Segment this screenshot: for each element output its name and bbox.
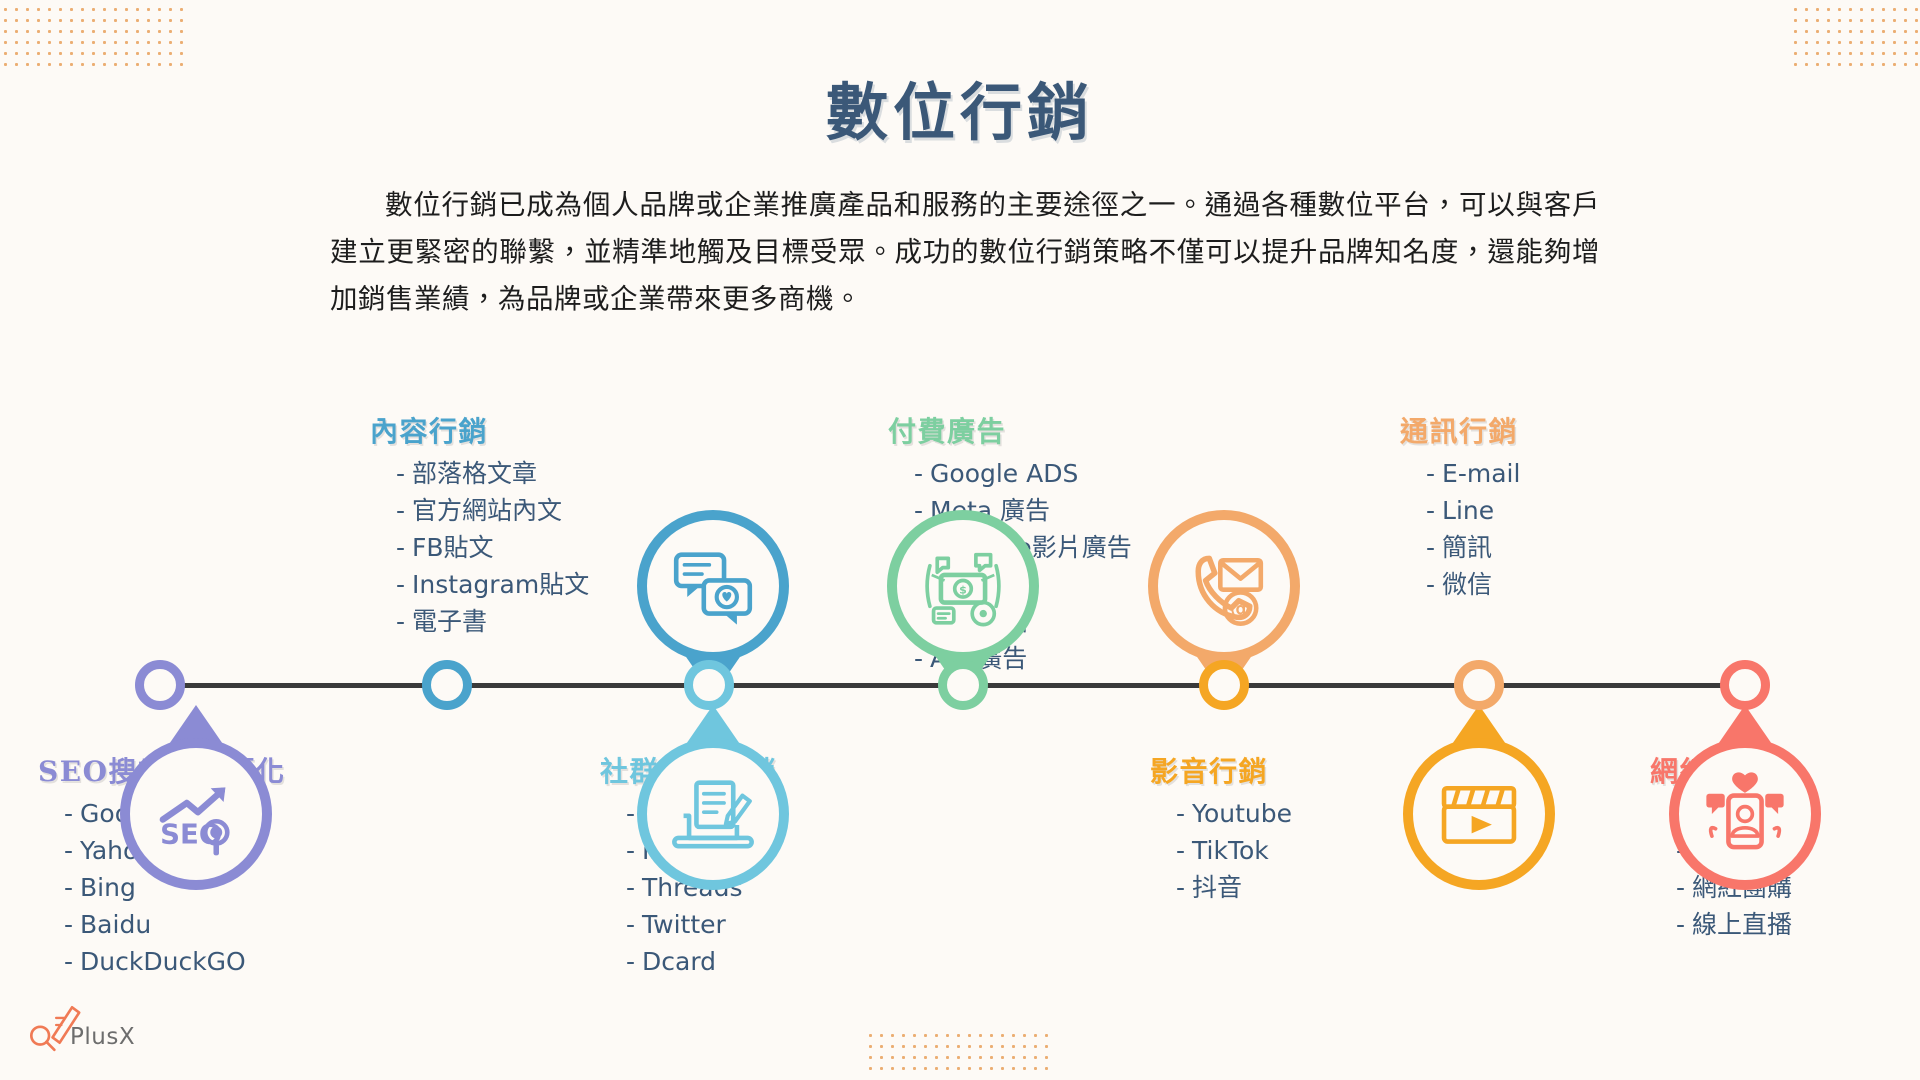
bullet-dash: - [1676, 910, 1685, 939]
bullet-dash: - [1176, 873, 1185, 902]
list-item: -DuckDuckGO [64, 943, 368, 980]
bullet-dash: - [626, 836, 635, 865]
list-item: -E-mail [1426, 455, 1730, 492]
bullet-dash: - [1426, 570, 1435, 599]
timeline-node-seo[interactable] [135, 660, 185, 710]
timeline-node-paid-ads[interactable] [938, 660, 988, 710]
svg-text:@: @ [1230, 595, 1251, 620]
list-item: -Dcard [626, 943, 930, 980]
section-list-messaging: -E-mail-Line-簡訊-微信 [1400, 455, 1730, 603]
bullet-dash: - [1426, 533, 1435, 562]
bullet-dash: - [1176, 799, 1185, 828]
pin-bubble-messaging: @ [1148, 510, 1300, 662]
laptop-document-pen-icon [667, 768, 759, 860]
list-item: -Twitter [626, 906, 930, 943]
pin-video[interactable] [1403, 705, 1555, 890]
dot-grid-top-left [0, 4, 190, 66]
timeline-node-messaging[interactable] [1454, 660, 1504, 710]
list-item: -簡訊 [1426, 529, 1730, 566]
pin-social[interactable] [637, 705, 789, 890]
list-item: -微信 [1426, 566, 1730, 603]
list-item: -Line [1426, 492, 1730, 529]
pin-seo[interactable]: SEO [120, 705, 272, 890]
section-heading-paid-ads: 付費廣告 [888, 410, 1218, 450]
pin-bubble-social [637, 738, 789, 890]
bullet-dash: - [396, 570, 405, 599]
dot-grid-bottom [865, 1030, 1055, 1072]
pin-bubble-influencer [1669, 738, 1821, 890]
phone-envelope-at-icon: @ [1178, 540, 1270, 632]
bullet-dash: - [626, 799, 635, 828]
bullet-dash: - [64, 799, 73, 828]
bullet-dash: - [64, 910, 73, 939]
bullet-dash: - [396, 533, 405, 562]
pin-bubble-content [637, 510, 789, 662]
pin-bubble-seo: SEO [120, 738, 272, 890]
bullet-dash: - [626, 947, 635, 976]
list-item: -Google ADS [914, 455, 1218, 492]
list-item: -部落格文章 [396, 455, 700, 492]
megaphone-network-icon: $ [917, 540, 1009, 632]
bullet-dash: - [1176, 836, 1185, 865]
bullet-dash: - [396, 607, 405, 636]
section-heading-content: 內容行銷 [370, 410, 700, 450]
plusx-watermark: PlusX [26, 992, 161, 1054]
bullet-dash: - [396, 459, 405, 488]
list-item: -Baidu [64, 906, 368, 943]
bullet-dash: - [64, 947, 73, 976]
bullet-dash: - [1426, 459, 1435, 488]
seo-growth-chart-icon: SEO [150, 768, 242, 860]
watermark-label: PlusX [70, 1024, 135, 1050]
section-block-messaging: 通訊行銷-E-mail-Line-簡訊-微信 [1400, 410, 1730, 603]
chat-bubbles-heart-icon [667, 540, 759, 632]
bullet-dash: - [64, 836, 73, 865]
pin-bubble-video [1403, 738, 1555, 890]
bullet-dash: - [396, 496, 405, 525]
mobile-person-hearts-icon [1699, 768, 1791, 860]
section-heading-messaging: 通訊行銷 [1400, 410, 1730, 450]
timeline-node-influencer[interactable] [1720, 660, 1770, 710]
timeline-node-video[interactable] [1199, 660, 1249, 710]
bullet-dash: - [64, 873, 73, 902]
page-title: 數位行銷 [0, 62, 1920, 152]
bullet-dash: - [1426, 496, 1435, 525]
timeline-node-content[interactable] [422, 660, 472, 710]
pin-influencer[interactable] [1669, 705, 1821, 890]
video-play-clapper-icon [1433, 768, 1525, 860]
timeline-node-social[interactable] [684, 660, 734, 710]
dot-grid-top-right [1790, 4, 1920, 66]
bullet-dash: - [626, 873, 635, 902]
svg-text:$: $ [959, 583, 967, 596]
list-item: -線上直播 [1676, 906, 1920, 943]
bullet-dash: - [626, 910, 635, 939]
intro-paragraph: 數位行銷已成為個人品牌或企業推廣產品和服務的主要途徑之一。通過各種數位平台，可以… [330, 182, 1600, 323]
pin-bubble-paid-ads: $ [887, 510, 1039, 662]
bullet-dash: - [914, 459, 923, 488]
